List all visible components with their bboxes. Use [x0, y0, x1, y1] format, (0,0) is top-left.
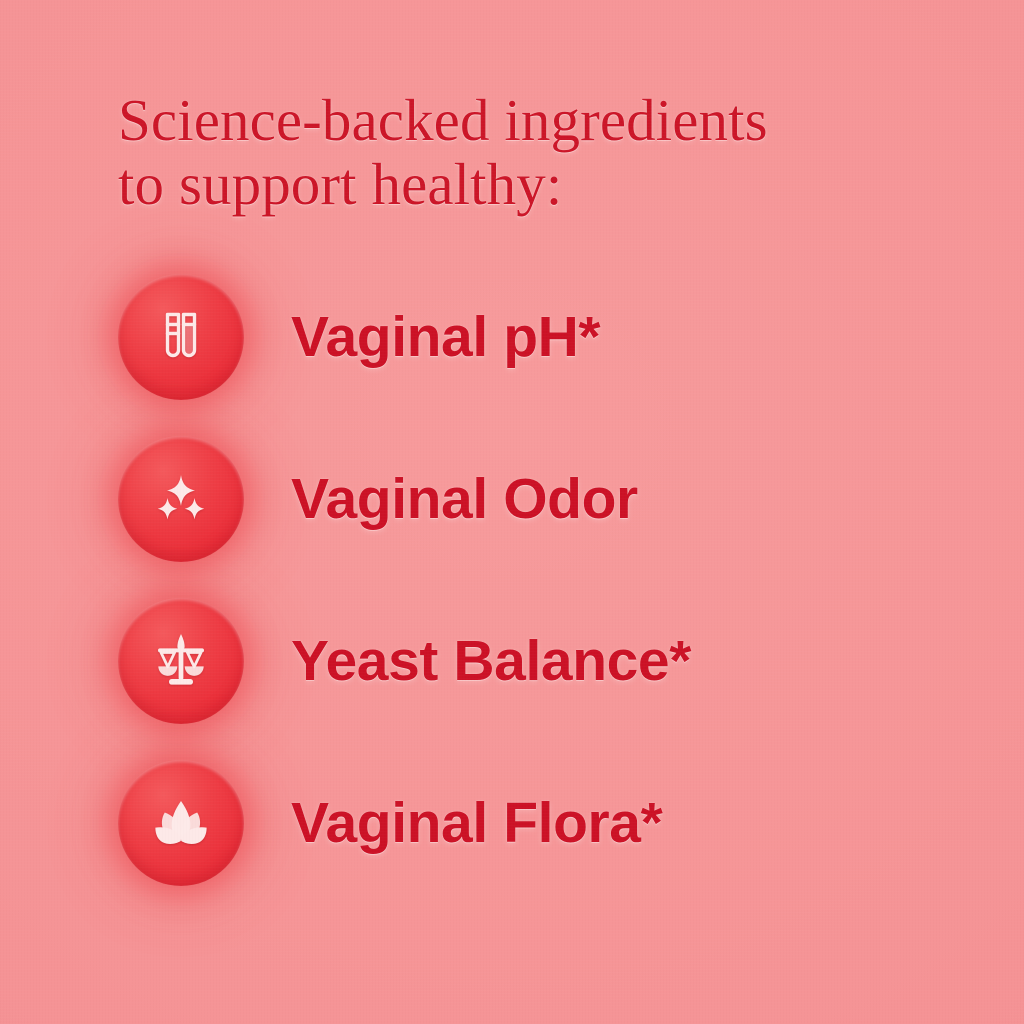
benefit-row-vaginal-ph: Vaginal pH* — [118, 272, 600, 402]
test-tubes-icon — [149, 305, 213, 369]
benefit-label: Vaginal pH* — [291, 309, 600, 366]
balance-scale-icon — [149, 629, 213, 693]
benefit-icon-badge — [118, 274, 244, 400]
benefit-icon-badge — [118, 760, 244, 886]
sparkles-icon — [149, 467, 213, 531]
benefit-label: Vaginal Flora* — [291, 795, 662, 852]
benefit-icon-badge — [118, 436, 244, 562]
benefit-row-vaginal-flora: Vaginal Flora* — [118, 758, 662, 888]
benefit-label: Yeast Balance* — [291, 633, 691, 690]
benefit-label: Vaginal Odor — [291, 471, 638, 528]
page-headline: Science-backed ingredients to support he… — [118, 88, 948, 216]
benefit-icon-badge — [118, 598, 244, 724]
benefits-poster: Science-backed ingredients to support he… — [0, 0, 1024, 1024]
lotus-flower-icon — [149, 791, 213, 855]
benefit-row-yeast-balance: Yeast Balance* — [118, 596, 691, 726]
benefit-row-vaginal-odor: Vaginal Odor — [118, 434, 638, 564]
